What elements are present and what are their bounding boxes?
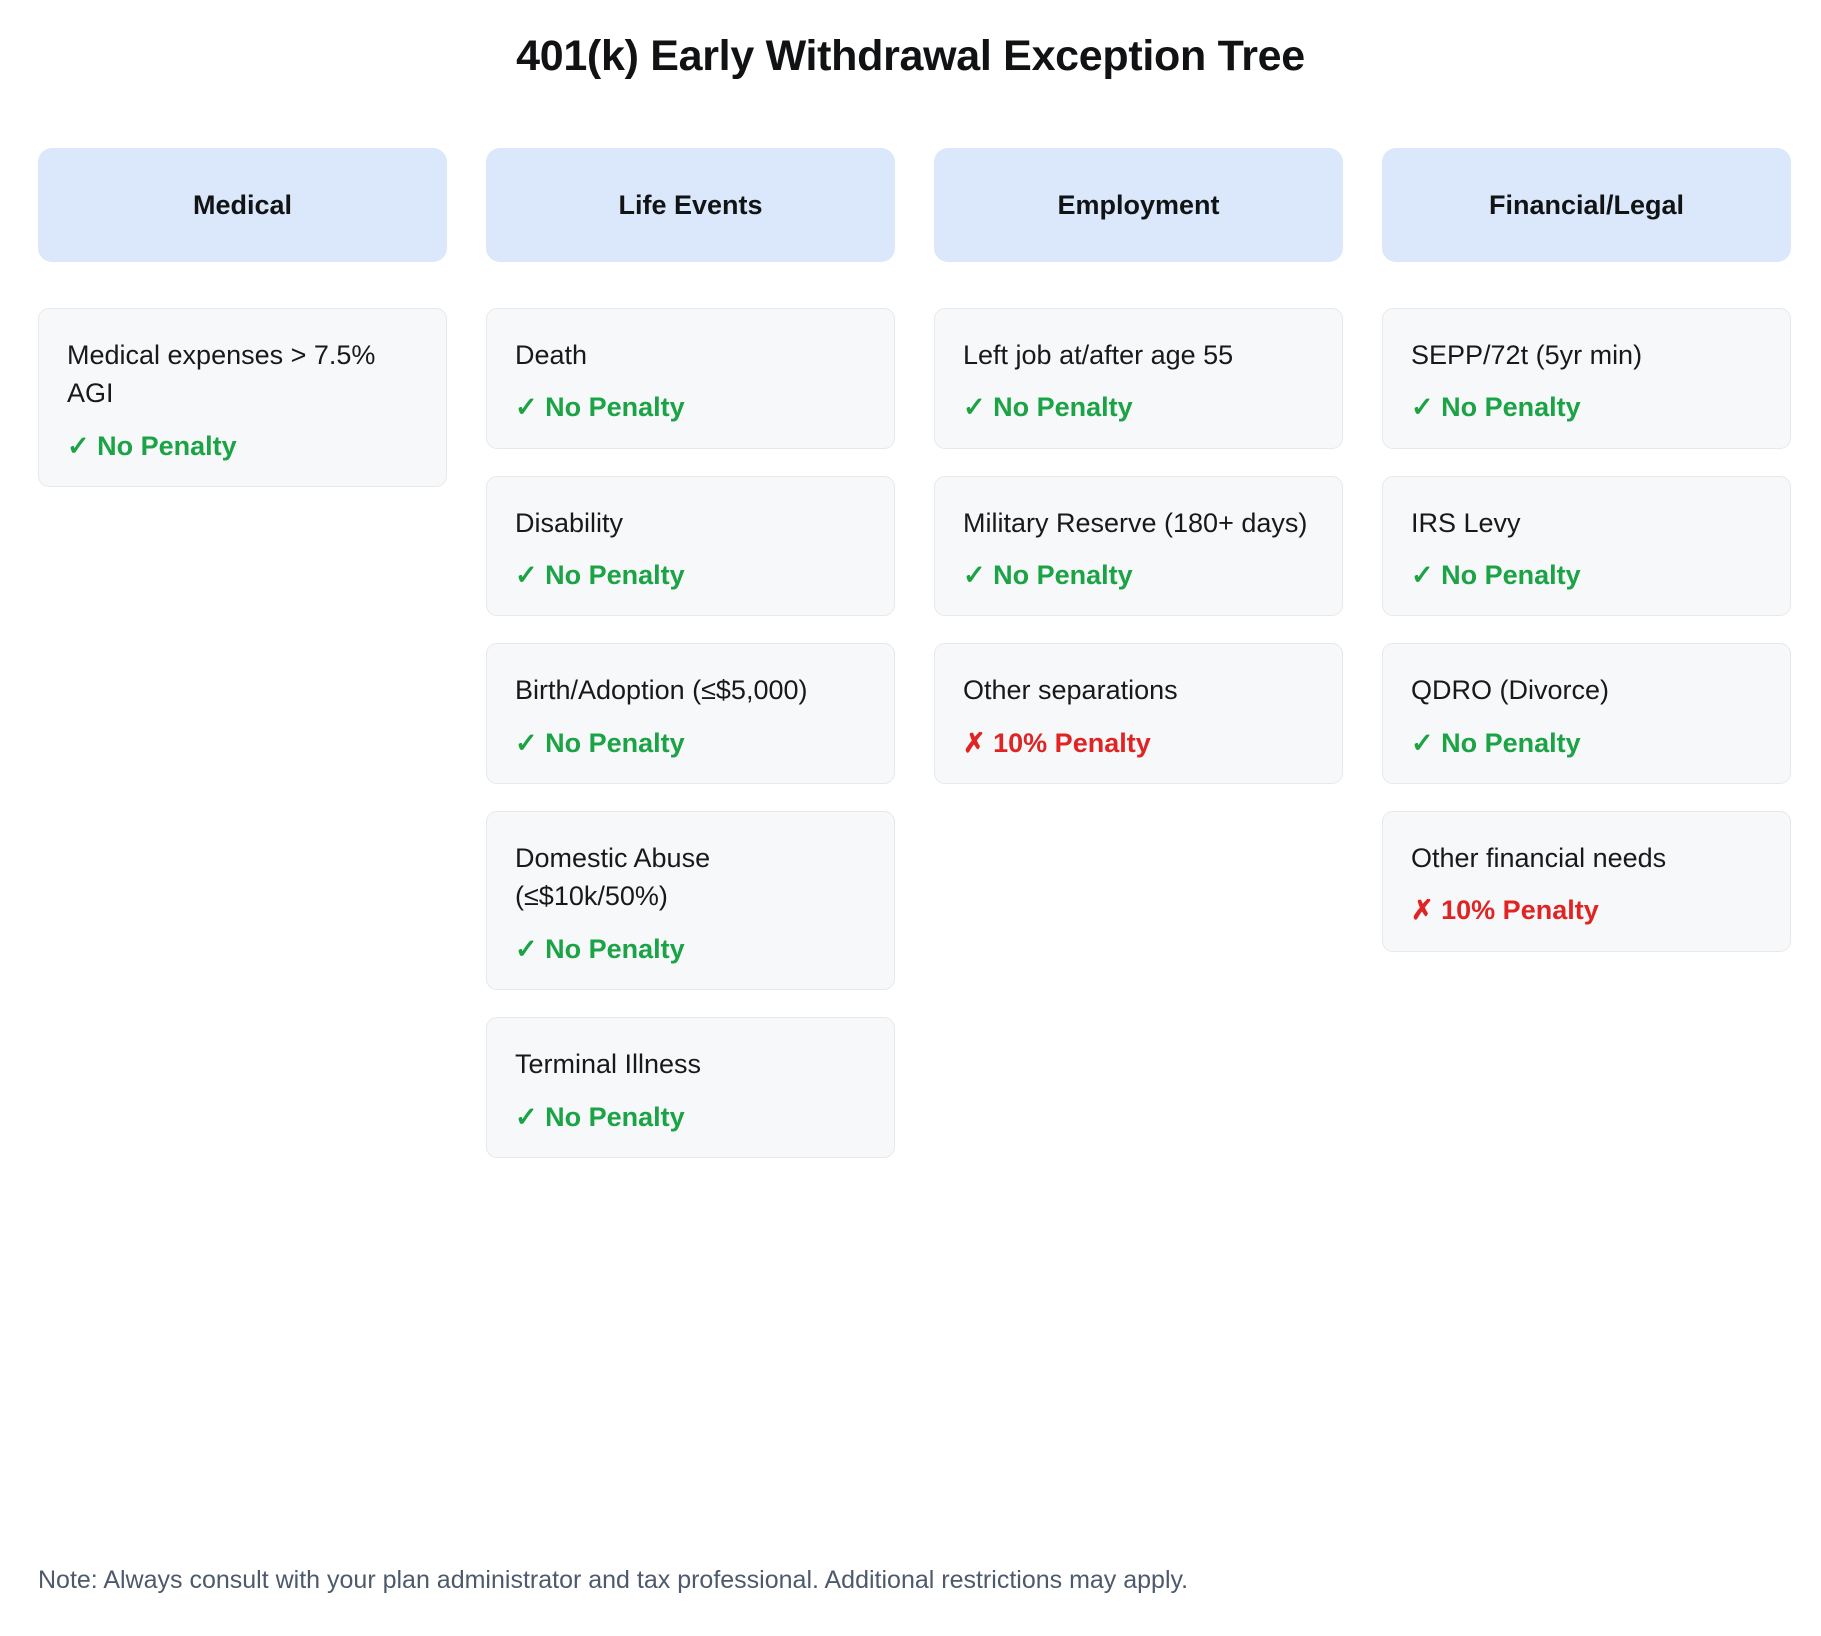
category-header-employment[interactable]: Employment bbox=[934, 148, 1343, 262]
status-text: No Penalty bbox=[545, 560, 685, 590]
category-header-medical[interactable]: Medical bbox=[38, 148, 447, 262]
exception-card[interactable]: Medical expenses > 7.5% AGI✓ No Penalty bbox=[38, 308, 447, 487]
status-text: 10% Penalty bbox=[1441, 895, 1599, 925]
check-icon: ✓ bbox=[1411, 392, 1434, 422]
check-icon: ✓ bbox=[515, 728, 538, 758]
exception-label: Left job at/after age 55 bbox=[963, 336, 1314, 374]
check-icon: ✓ bbox=[515, 560, 538, 590]
status-badge: ✓ No Penalty bbox=[963, 391, 1314, 423]
exception-label: Other separations bbox=[963, 671, 1314, 709]
status-text: No Penalty bbox=[545, 728, 685, 758]
exception-card[interactable]: Terminal Illness✓ No Penalty bbox=[486, 1017, 895, 1158]
category-header-financial-legal[interactable]: Financial/Legal bbox=[1382, 148, 1791, 262]
cross-icon: ✗ bbox=[1411, 895, 1434, 925]
status-badge: ✓ No Penalty bbox=[515, 727, 866, 759]
category-column-life-events: Life EventsDeath✓ No PenaltyDisability✓ … bbox=[486, 148, 895, 1185]
status-text: No Penalty bbox=[545, 392, 685, 422]
status-badge: ✓ No Penalty bbox=[963, 559, 1314, 591]
exception-card[interactable]: Military Reserve (180+ days)✓ No Penalty bbox=[934, 476, 1343, 617]
card-list: Left job at/after age 55✓ No PenaltyMili… bbox=[934, 262, 1343, 811]
exception-label: Death bbox=[515, 336, 866, 374]
status-badge: ✓ No Penalty bbox=[1411, 727, 1762, 759]
exception-card[interactable]: SEPP/72t (5yr min)✓ No Penalty bbox=[1382, 308, 1791, 449]
page-title: 401(k) Early Withdrawal Exception Tree bbox=[0, 0, 1821, 80]
status-badge: ✓ No Penalty bbox=[515, 559, 866, 591]
status-badge: ✓ No Penalty bbox=[67, 430, 418, 462]
status-text: No Penalty bbox=[993, 560, 1133, 590]
status-badge: ✓ No Penalty bbox=[515, 1101, 866, 1133]
check-icon: ✓ bbox=[515, 392, 538, 422]
card-list: SEPP/72t (5yr min)✓ No PenaltyIRS Levy✓ … bbox=[1382, 262, 1791, 979]
exception-card[interactable]: IRS Levy✓ No Penalty bbox=[1382, 476, 1791, 617]
exception-label: Military Reserve (180+ days) bbox=[963, 504, 1314, 542]
category-header-life-events[interactable]: Life Events bbox=[486, 148, 895, 262]
exception-card[interactable]: Other financial needs✗ 10% Penalty bbox=[1382, 811, 1791, 952]
exception-card[interactable]: Disability✓ No Penalty bbox=[486, 476, 895, 617]
status-text: 10% Penalty bbox=[993, 728, 1151, 758]
exception-card[interactable]: Other separations✗ 10% Penalty bbox=[934, 643, 1343, 784]
exception-card[interactable]: Birth/Adoption (≤$5,000)✓ No Penalty bbox=[486, 643, 895, 784]
exception-card[interactable]: Left job at/after age 55✓ No Penalty bbox=[934, 308, 1343, 449]
exception-label: Terminal Illness bbox=[515, 1045, 866, 1083]
status-badge: ✓ No Penalty bbox=[1411, 559, 1762, 591]
status-text: No Penalty bbox=[97, 431, 237, 461]
category-column-employment: EmploymentLeft job at/after age 55✓ No P… bbox=[934, 148, 1343, 811]
exception-label: Medical expenses > 7.5% AGI bbox=[67, 336, 418, 413]
card-list: Medical expenses > 7.5% AGI✓ No Penalty bbox=[38, 262, 447, 514]
status-badge: ✓ No Penalty bbox=[515, 933, 866, 965]
exception-label: Other financial needs bbox=[1411, 839, 1762, 877]
exception-label: IRS Levy bbox=[1411, 504, 1762, 542]
status-text: No Penalty bbox=[1441, 392, 1581, 422]
check-icon: ✓ bbox=[515, 934, 538, 964]
status-text: No Penalty bbox=[545, 1102, 685, 1132]
category-column-medical: MedicalMedical expenses > 7.5% AGI✓ No P… bbox=[38, 148, 447, 514]
cross-icon: ✗ bbox=[963, 728, 986, 758]
status-badge: ✗ 10% Penalty bbox=[963, 727, 1314, 759]
check-icon: ✓ bbox=[963, 560, 986, 590]
status-badge: ✗ 10% Penalty bbox=[1411, 894, 1762, 926]
exception-label: Disability bbox=[515, 504, 866, 542]
status-badge: ✓ No Penalty bbox=[1411, 391, 1762, 423]
check-icon: ✓ bbox=[1411, 728, 1434, 758]
status-text: No Penalty bbox=[1441, 560, 1581, 590]
card-list: Death✓ No PenaltyDisability✓ No PenaltyB… bbox=[486, 262, 895, 1185]
exception-card[interactable]: Death✓ No Penalty bbox=[486, 308, 895, 449]
exception-card[interactable]: Domestic Abuse (≤$10k/50%)✓ No Penalty bbox=[486, 811, 895, 990]
footer-note: Note: Always consult with your plan admi… bbox=[38, 1564, 1188, 1597]
check-icon: ✓ bbox=[1411, 560, 1434, 590]
check-icon: ✓ bbox=[963, 392, 986, 422]
status-text: No Penalty bbox=[1441, 728, 1581, 758]
exception-label: Domestic Abuse (≤$10k/50%) bbox=[515, 839, 866, 916]
category-column-financial-legal: Financial/LegalSEPP/72t (5yr min)✓ No Pe… bbox=[1382, 148, 1791, 979]
exception-tree-board: MedicalMedical expenses > 7.5% AGI✓ No P… bbox=[38, 148, 1798, 1185]
status-text: No Penalty bbox=[545, 934, 685, 964]
status-badge: ✓ No Penalty bbox=[515, 391, 866, 423]
check-icon: ✓ bbox=[67, 431, 90, 461]
status-text: No Penalty bbox=[993, 392, 1133, 422]
exception-label: QDRO (Divorce) bbox=[1411, 671, 1762, 709]
exception-label: SEPP/72t (5yr min) bbox=[1411, 336, 1762, 374]
check-icon: ✓ bbox=[515, 1102, 538, 1132]
exception-card[interactable]: QDRO (Divorce)✓ No Penalty bbox=[1382, 643, 1791, 784]
exception-label: Birth/Adoption (≤$5,000) bbox=[515, 671, 866, 709]
